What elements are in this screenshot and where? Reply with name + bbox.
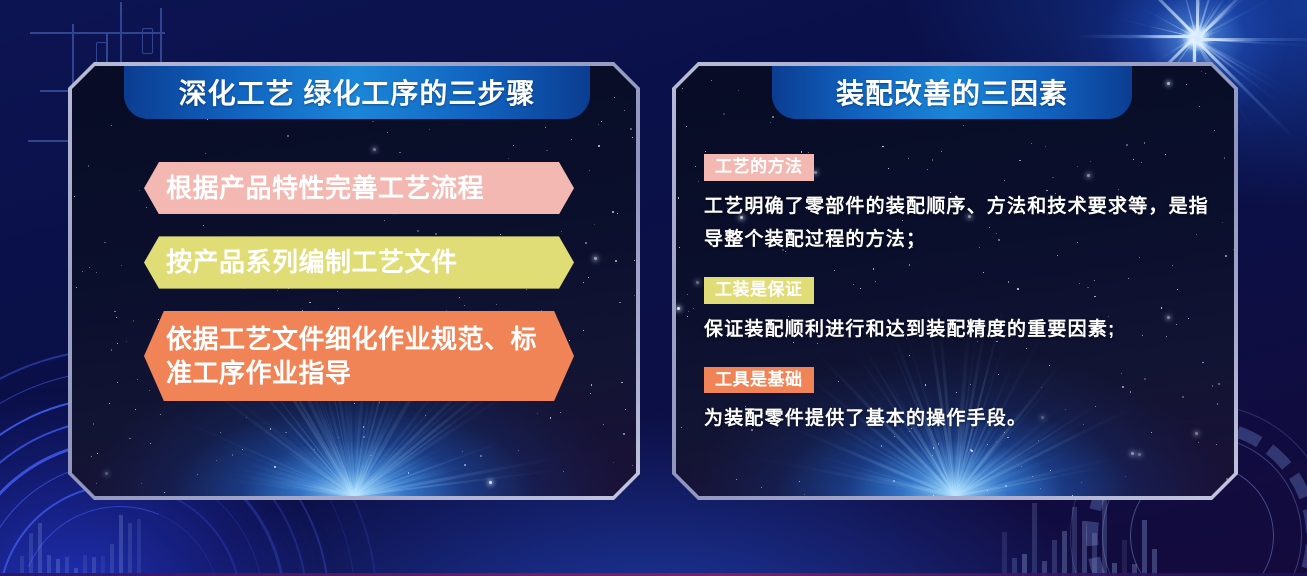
- left-panel-title: 深化工艺 绿化工序的三步骤: [179, 72, 536, 112]
- step-item-3[interactable]: 依据工艺文件细化作业规范、标准工序作业指导: [144, 311, 574, 402]
- factor-item-1-tag: 工艺的方法: [704, 154, 814, 181]
- left-panel-step-list: 根据产品特性完善工艺流程 按产品系列编制工艺文件 依据工艺文件细化作业规范、标准…: [144, 162, 574, 423]
- step-item-1-label: 根据产品特性完善工艺流程: [166, 171, 484, 205]
- factor-item-2-body: 保证装配顺利进行和达到装配精度的重要因素;: [704, 313, 1212, 346]
- star-burst-core: [1183, 25, 1209, 51]
- step-item-1[interactable]: 根据产品特性完善工艺流程: [144, 162, 574, 214]
- right-panel-title: 装配改善的三因素: [836, 72, 1068, 112]
- left-panel: 深化工艺 绿化工序的三步骤 根据产品特性完善工艺流程 按产品系列编制工艺文件 依…: [68, 62, 640, 500]
- right-panel-inner: 装配改善的三因素 工艺的方法 工艺明确了零部件的装配顺序、方法和技术要求等，是指…: [676, 66, 1234, 496]
- right-panel: 装配改善的三因素 工艺的方法 工艺明确了零部件的装配顺序、方法和技术要求等，是指…: [672, 62, 1238, 500]
- right-panel-factor-list: 工艺的方法 工艺明确了零部件的装配顺序、方法和技术要求等，是指导整个装配过程的方…: [704, 154, 1212, 457]
- slide-canvas: 深化工艺 绿化工序的三步骤 根据产品特性完善工艺流程 按产品系列编制工艺文件 依…: [0, 0, 1307, 576]
- factor-item-3[interactable]: 工具是基础 为装配零件提供了基本的操作手段。: [704, 367, 1212, 436]
- factor-item-1-body: 工艺明确了零部件的装配顺序、方法和技术要求等，是指导整个装配过程的方法；: [704, 190, 1212, 257]
- right-panel-title-banner: 装配改善的三因素: [772, 66, 1132, 119]
- factor-item-3-body: 为装配零件提供了基本的操作手段。: [704, 402, 1212, 435]
- factor-item-2-tag: 工装是保证: [704, 277, 814, 304]
- factor-item-2[interactable]: 工装是保证 保证装配顺利进行和达到装配精度的重要因素;: [704, 277, 1212, 346]
- step-item-3-label: 依据工艺文件细化作业规范、标准工序作业指导: [166, 322, 552, 391]
- factor-item-3-tag: 工具是基础: [704, 367, 814, 394]
- factor-item-1[interactable]: 工艺的方法 工艺明确了零部件的装配顺序、方法和技术要求等，是指导整个装配过程的方…: [704, 154, 1212, 256]
- left-panel-title-banner: 深化工艺 绿化工序的三步骤: [124, 66, 590, 119]
- step-item-2-label: 按产品系列编制工艺文件: [166, 245, 458, 279]
- left-panel-inner: 深化工艺 绿化工序的三步骤 根据产品特性完善工艺流程 按产品系列编制工艺文件 依…: [72, 66, 636, 496]
- step-item-2[interactable]: 按产品系列编制工艺文件: [144, 236, 574, 288]
